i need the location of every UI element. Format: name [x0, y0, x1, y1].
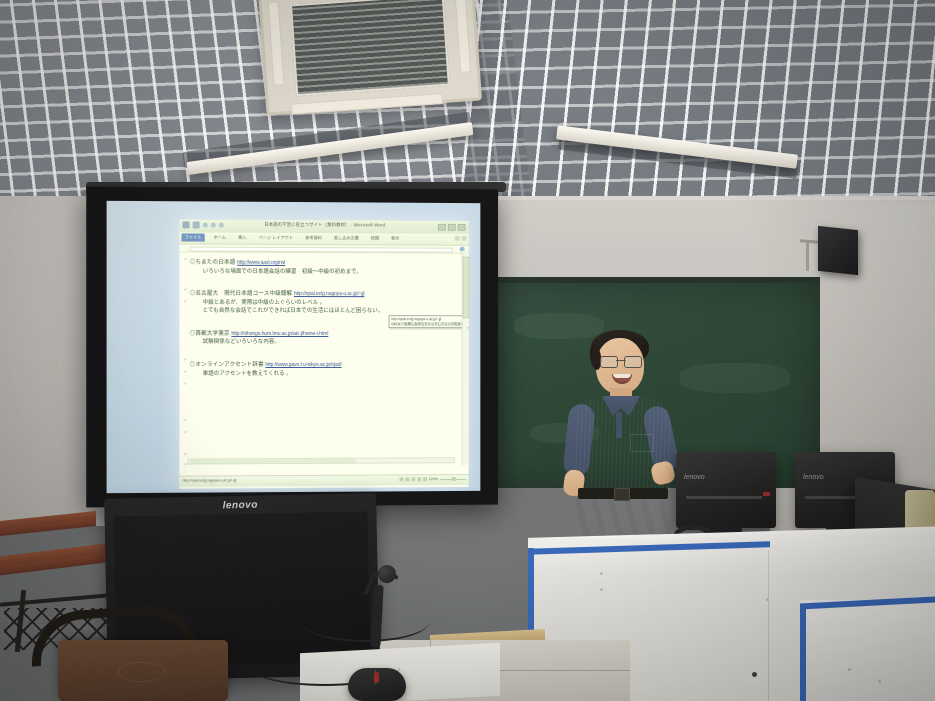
belt-buckle — [614, 488, 630, 501]
ac-grille-icon — [290, 0, 450, 96]
word-window[interactable]: 日本語の学習に役立つサイト〔無料教材〕 - Microsoft Word ファイ… — [180, 219, 469, 488]
ac-vane — [268, 1, 285, 86]
zoom-level: 120% — [429, 477, 438, 481]
monitor-back-left: lenovo — [676, 452, 776, 528]
doc-heading: ◎オンラインアクセント辞書 http://www.gavo.t.u-tokyo.… — [190, 361, 459, 370]
ac-vane — [454, 0, 471, 73]
window-controls[interactable] — [438, 224, 466, 231]
tab-page-layout[interactable]: ページ レイアウト — [256, 234, 297, 242]
desk-screw — [600, 572, 603, 575]
mouse[interactable] — [348, 668, 406, 701]
tab-file[interactable]: ファイル — [182, 233, 205, 241]
lenovo-logo: lenovo — [684, 474, 705, 481]
desk-seam — [768, 550, 769, 701]
tab-view[interactable]: 表示 — [388, 234, 402, 242]
shirt-placket — [616, 412, 622, 438]
doc-heading: ◎首都大学東京 http://nihongo.hum.tmu.ac.jp/aic… — [190, 330, 459, 339]
tooltip-hint: Ctrl キーを押しながらクリックしてリンク先を表示 — [391, 322, 467, 327]
ceiling-grid-right — [451, 0, 935, 215]
zoom-slider[interactable] — [440, 479, 466, 480]
doc-link[interactable]: http://opal.eclg.nagoya-u.ac.jp/~jjl — [294, 291, 365, 297]
desk-lock — [752, 672, 757, 677]
tab-mailings[interactable]: 差し込み文書 — [331, 234, 362, 242]
glasses-icon — [600, 356, 642, 366]
close-icon[interactable] — [458, 224, 466, 231]
teeth — [613, 374, 631, 378]
minimize-ribbon-icon[interactable] — [462, 236, 467, 241]
doc-link[interactable]: http://www.aast.org/rwi — [237, 260, 285, 266]
zoom-slider-knob[interactable] — [452, 477, 456, 481]
projection-surface: 日本語の学習に役立つサイト〔無料教材〕 - Microsoft Word ファイ… — [107, 201, 481, 493]
desk-screw — [878, 680, 881, 683]
desk-screw — [848, 668, 851, 671]
mouse-scroll-wheel[interactable] — [374, 672, 379, 683]
doc-description: 単語のアクセントを教えてくれる 。 — [190, 369, 459, 378]
projection-screen: 日本語の学習に役立つサイト〔無料教材〕 - Microsoft Word ファイ… — [86, 187, 498, 508]
document-page[interactable]: ↵ ↵ ↵ ↵ ↵ ↵ ↵ ↵ ↵ ↵ ◎ちまたの日本語 http://www.… — [180, 253, 469, 476]
desk-screw — [600, 588, 603, 591]
doc-heading-text: ◎首都大学東京 — [190, 331, 230, 337]
vertical-scrollbar[interactable] — [462, 251, 468, 465]
minimize-icon[interactable] — [438, 224, 446, 231]
doc-link[interactable]: http://www.gavo.t.u-tokyo.ac.jp/ojad/ — [265, 362, 341, 368]
doc-block-4: ◎オンラインアクセント辞書 http://www.gavo.t.u-tokyo.… — [190, 361, 459, 378]
wall-cable — [806, 243, 809, 271]
help-icon[interactable] — [455, 236, 460, 241]
side-desk — [800, 600, 935, 701]
classroom-photo: 日本語の学習に役立つサイト〔無料教材〕 - Microsoft Word ファイ… — [0, 0, 935, 701]
restore-icon[interactable] — [448, 224, 456, 231]
microphone-cable — [300, 600, 430, 642]
doc-heading-text: ◎ちまたの日本語 — [190, 260, 236, 266]
microphone-head — [378, 565, 396, 583]
shirt-pocket — [630, 434, 654, 452]
horizontal-scrollbar[interactable] — [188, 457, 455, 464]
view-print-layout-icon[interactable] — [399, 477, 403, 481]
doc-description: 試験関係などいろいろな内容。 — [190, 338, 459, 346]
scrollbar-thumb[interactable] — [191, 459, 356, 464]
doc-description: いろいろな場面での日本語会話の練習 初級～中級の初めまで。 — [190, 267, 459, 276]
doc-block-1: ◎ちまたの日本語 http://www.aast.org/rwi いろいろな場面… — [190, 259, 459, 277]
tab-references[interactable]: 参考資料 — [302, 234, 325, 242]
doc-block-3: ◎首都大学東京 http://nihongo.hum.tmu.ac.jp/aic… — [190, 330, 459, 347]
status-link-url: http://opal.eclg.nagoya-u.ac.jp/~jjl — [183, 478, 237, 482]
tooltip-url: http://opal.eclg.nagoya-u.ac.jp/~jjl — [391, 317, 441, 321]
desk-screw — [766, 598, 769, 601]
view-draft-icon[interactable] — [423, 477, 427, 481]
desk-blue-trim — [800, 604, 806, 701]
doc-heading: ◎名古屋大 現代日本語コース中級聴解 http://opal.eclg.nago… — [190, 290, 459, 299]
wall-speaker — [818, 226, 858, 275]
doc-heading-text: ◎オンラインアクセント辞書 — [190, 362, 264, 368]
hyperlink-tooltip: http://opal.eclg.nagoya-u.ac.jp/~jjl Ctr… — [388, 315, 468, 328]
scrollbar-thumb[interactable] — [463, 257, 470, 319]
lenovo-logo: lenovo — [803, 474, 824, 481]
doc-link[interactable]: http://nihongo.hum.tmu.ac.jp/aic-j/home-… — [231, 331, 328, 337]
view-outline-icon[interactable] — [417, 477, 421, 481]
tab-review[interactable]: 校閲 — [368, 234, 382, 242]
air-conditioner-unit — [258, 0, 482, 115]
status-bar: http://opal.eclg.nagoya-u.ac.jp/~jjl 120… — [180, 474, 469, 487]
doc-block-2: ◎名古屋大 現代日本語コース中級聴解 http://opal.eclg.nago… — [190, 290, 459, 316]
tab-home[interactable]: ホーム — [211, 234, 230, 242]
tab-insert[interactable]: 挿入 — [235, 234, 249, 242]
view-full-screen-icon[interactable] — [405, 477, 409, 481]
view-web-layout-icon[interactable] — [411, 477, 415, 481]
doc-heading-text: ◎名古屋大 現代日本語コース中級聴解 — [190, 291, 293, 297]
leather-bag — [58, 640, 228, 701]
